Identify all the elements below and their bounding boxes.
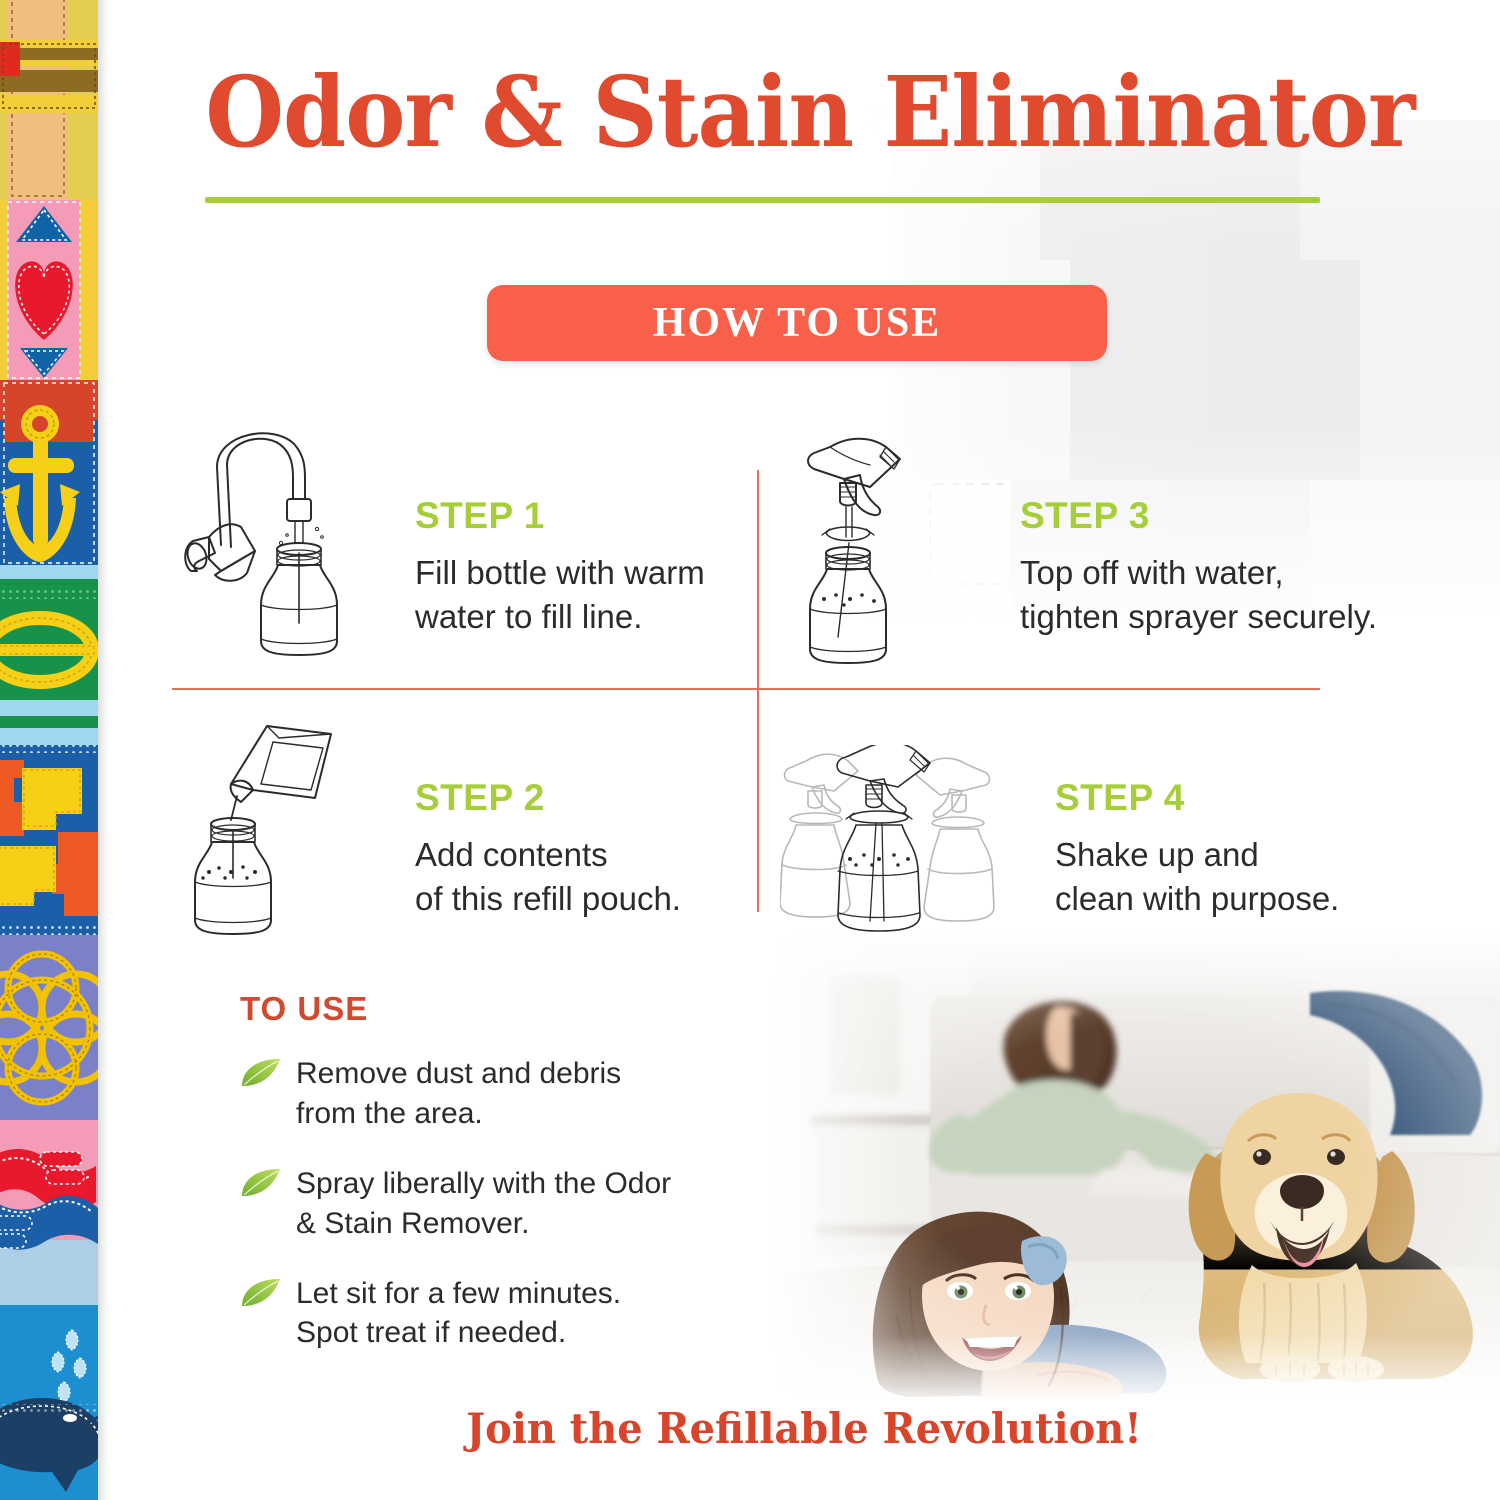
step-grid-divider-horizontal — [172, 688, 1320, 690]
footer-tagline: Join the Refillable Revolution! — [143, 1404, 1465, 1453]
step-1-line-1: Fill bottle with warm — [415, 551, 705, 595]
girl-with-golden-retriever-on-rug-photo — [770, 935, 1500, 1400]
to-use-item-3-text: Let sit for a few minutes. Spot treat if… — [296, 1274, 621, 1354]
strip-edge-shadow — [98, 0, 108, 1500]
step-2-body: Add contents of this refill pouch. — [415, 833, 681, 921]
step-2-label: STEP 2 — [415, 777, 681, 819]
step-1: STEP 1 Fill bottle with warm water to fi… — [175, 425, 705, 665]
to-use-section: TO USE Remove dust and debris from the a… — [240, 990, 740, 1383]
leaf-icon — [240, 1278, 282, 1313]
faucet-filling-bottle-icon — [175, 425, 355, 665]
step-4-label: STEP 4 — [1055, 777, 1339, 819]
leaf-icon — [240, 1058, 282, 1093]
step-2: STEP 2 Add contents of this refill pouch… — [175, 712, 681, 947]
to-use-item-3-line-2: Spot treat if needed. — [296, 1316, 566, 1349]
decor-panel-blocks — [0, 745, 98, 935]
decor-panel-heart — [0, 200, 98, 380]
to-use-heading: TO USE — [240, 990, 740, 1028]
to-use-item-2: Spray liberally with the Odor & Stain Re… — [240, 1164, 740, 1244]
sprayer-attaching-bottle-icon — [800, 425, 950, 670]
step-4-line-2: clean with purpose. — [1055, 877, 1339, 921]
to-use-item-2-line-2: & Stain Remover. — [296, 1207, 529, 1240]
step-2-line-1: Add contents — [415, 833, 681, 877]
step-3-label: STEP 3 — [1020, 495, 1377, 537]
to-use-item-1: Remove dust and debris from the area. — [240, 1054, 740, 1134]
how-to-use-banner: HOW TO USE — [487, 285, 1107, 361]
pouch-pouring-into-bottle-icon — [175, 712, 355, 947]
step-4-body: Shake up and clean with purpose. — [1055, 833, 1339, 921]
leaf-icon — [240, 1168, 282, 1203]
decor-panel-oval — [0, 565, 98, 745]
to-use-item-1-line-1: Remove dust and debris — [296, 1057, 621, 1090]
step-3: STEP 3 Top off with water, tighten spray… — [800, 425, 1377, 670]
how-to-use-label: HOW TO USE — [653, 299, 941, 347]
decor-panel-rosette — [0, 935, 98, 1120]
decor-panel-handshake — [0, 1120, 98, 1305]
decor-panel-ribbon — [0, 0, 98, 200]
to-use-item-3: Let sit for a few minutes. Spot treat if… — [240, 1274, 740, 1354]
to-use-item-2-text: Spray liberally with the Odor & Stain Re… — [296, 1164, 671, 1244]
step-1-line-2: water to fill line. — [415, 595, 705, 639]
nautical-quilt-pattern-strip — [0, 0, 98, 1500]
step-3-body: Top off with water, tighten sprayer secu… — [1020, 551, 1377, 639]
page-title: Odor & Stain Eliminator — [196, 62, 1424, 164]
step-1-body: Fill bottle with warm water to fill line… — [415, 551, 705, 639]
product-infographic-page: Odor & Stain Eliminator HOW TO USE — [0, 0, 1500, 1500]
decor-panel-anchor — [0, 380, 98, 565]
step-4: STEP 4 Shake up and clean with purpose. — [780, 745, 1339, 940]
to-use-item-3-line-1: Let sit for a few minutes. — [296, 1277, 621, 1310]
decor-panel-whale — [0, 1305, 98, 1500]
step-1-label: STEP 1 — [415, 495, 705, 537]
step-3-line-1: Top off with water, — [1020, 551, 1377, 595]
step-4-line-1: Shake up and — [1055, 833, 1339, 877]
to-use-item-1-text: Remove dust and debris from the area. — [296, 1054, 621, 1134]
step-2-line-2: of this refill pouch. — [415, 877, 681, 921]
shaking-spray-bottles-icon — [780, 745, 995, 940]
to-use-item-1-line-2: from the area. — [296, 1097, 483, 1130]
step-3-line-2: tighten sprayer securely. — [1020, 595, 1377, 639]
to-use-item-2-line-1: Spray liberally with the Odor — [296, 1167, 671, 1200]
step-grid-divider-vertical — [757, 470, 759, 912]
title-underline — [205, 197, 1320, 203]
